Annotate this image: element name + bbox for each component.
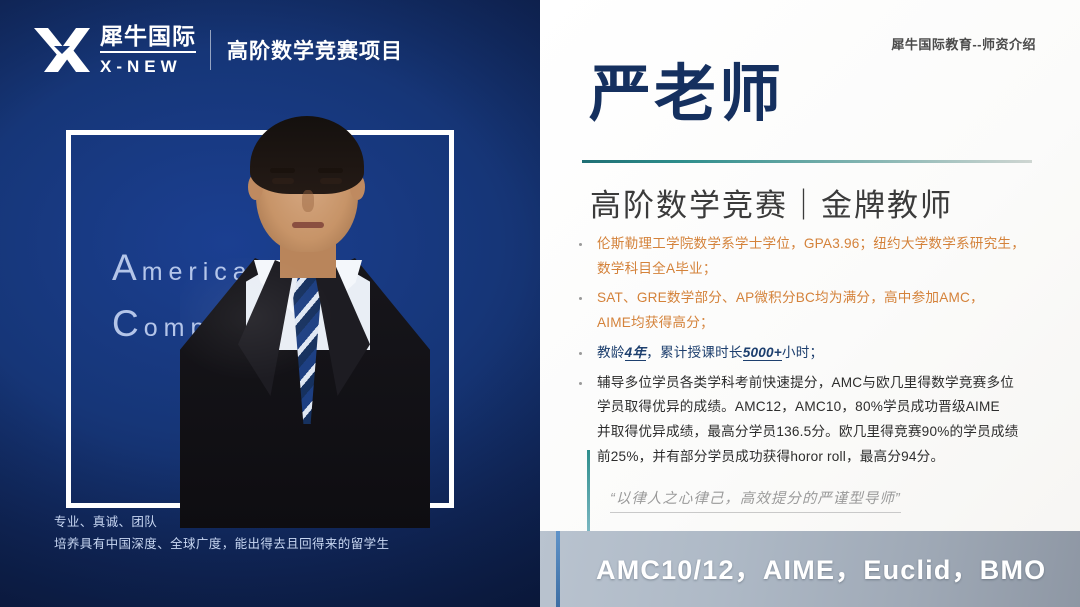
right-panel: 犀牛国际教育--师资介绍 严老师 高阶数学竞赛｜金牌教师 伦斯勒理工学院数学系学… [540, 0, 1080, 607]
credential-line: AIME均获得高分； [597, 311, 984, 336]
bullet-dot-icon [579, 297, 582, 300]
credentials-list: 伦斯勒理工学院数学系学士学位，GPA3.96；纽约大学数学系研究生，数学科目全A… [576, 232, 1062, 475]
credential-item: SAT、GRE数学部分、AP微积分BC均为满分，高中参加AMC，AIME均获得高… [576, 286, 1062, 335]
credential-item: 伦斯勒理工学院数学系学士学位，GPA3.96；纽约大学数学系研究生，数学科目全A… [576, 232, 1062, 281]
credential-highlight: 4年 [625, 345, 647, 361]
suit-sheen [180, 258, 430, 528]
credential-line: 数学科目全A毕业； [597, 257, 1025, 282]
credential-text: SAT、GRE数学部分、AP微积分BC均为满分，高中参加AMC，AIME均获得高… [597, 286, 984, 335]
quote-accent-bar [587, 450, 590, 536]
credential-text: 辅导多位学员各类学科考前快速提分，AMC与欧几里得数学竞赛多位学员取得优异的成绩… [597, 371, 1018, 470]
credential-highlight: 5000+ [743, 345, 782, 361]
bullet-dot-icon [579, 352, 582, 355]
left-footer-tagline: 专业、真诚、团队 培养具有中国深度、全球广度，能出得去且回得来的留学生 [54, 512, 389, 556]
eye-right [320, 178, 342, 184]
profile-subtitle: 高阶数学竞赛｜金牌教师 [590, 180, 953, 225]
teacher-portrait [180, 108, 430, 528]
credential-line: 辅导多位学员各类学科考前快速提分，AMC与欧几里得数学竞赛多位 [597, 371, 1018, 396]
credential-line: 前25%，并有部分学员成功获得horor roll，最高分94分。 [597, 445, 1018, 470]
credential-text: 教龄4年，累计授课时长5000+小时； [597, 341, 823, 366]
left-panel: America Compe [0, 0, 540, 607]
x-new-logo-icon [32, 24, 92, 76]
nose [302, 190, 314, 212]
page-title: 严老师 [589, 64, 784, 126]
band-accent-bar [556, 531, 560, 607]
credential-line: 并取得优异成绩，最高分学员136.5分。欧几里得竞赛90%的学员成绩 [597, 420, 1018, 445]
mouth [292, 222, 324, 228]
logo-divider [210, 30, 211, 70]
program-title: 高阶数学竞赛项目 [227, 35, 403, 65]
hair [250, 116, 364, 194]
eyebrow-right [318, 168, 343, 173]
credential-line: 伦斯勒理工学院数学系学士学位，GPA3.96；纽约大学数学系研究生， [597, 232, 1025, 257]
title-divider [582, 160, 1032, 163]
bullet-dot-icon [579, 382, 582, 385]
credential-span: ，累计授课时长 [646, 345, 743, 360]
eyebrow-left [270, 168, 295, 173]
credential-line: SAT、GRE数学部分、AP微积分BC均为满分，高中参加AMC， [597, 286, 984, 311]
corner-heading: 犀牛国际教育--师资介绍 [891, 34, 1036, 53]
profile-quote: “以律人之心律己，高效提分的严谨型导师” [610, 487, 901, 513]
tagline-line-2: 培养具有中国深度、全球广度，能出得去且回得来的留学生 [54, 534, 389, 556]
credential-span: 教龄 [597, 345, 625, 360]
brand-logo-text: 犀牛国际 X-NEW [100, 25, 196, 75]
bullet-dot-icon [579, 243, 582, 246]
slide-root: America Compe [0, 0, 1080, 607]
band-subjects: AMC10/12，AIME，Euclid，BMO [596, 548, 1046, 587]
credential-line: 学员取得优异的成绩。AMC12，AMC10，80%学员成功晋级AIME [597, 395, 1018, 420]
brand-name-cn: 犀牛国际 [100, 25, 196, 53]
credential-item: 辅导多位学员各类学科考前快速提分，AMC与欧几里得数学竞赛多位学员取得优异的成绩… [576, 371, 1062, 470]
brand-logo: 犀牛国际 X-NEW 高阶数学竞赛项目 [32, 24, 403, 76]
credential-item: 教龄4年，累计授课时长5000+小时； [576, 341, 1062, 366]
brand-name-en: X-NEW [100, 58, 196, 75]
credential-span: 小时； [782, 345, 823, 360]
credential-text: 伦斯勒理工学院数学系学士学位，GPA3.96；纽约大学数学系研究生，数学科目全A… [597, 232, 1025, 281]
eye-left [272, 178, 294, 184]
tagline-line-1: 专业、真诚、团队 [54, 512, 389, 534]
